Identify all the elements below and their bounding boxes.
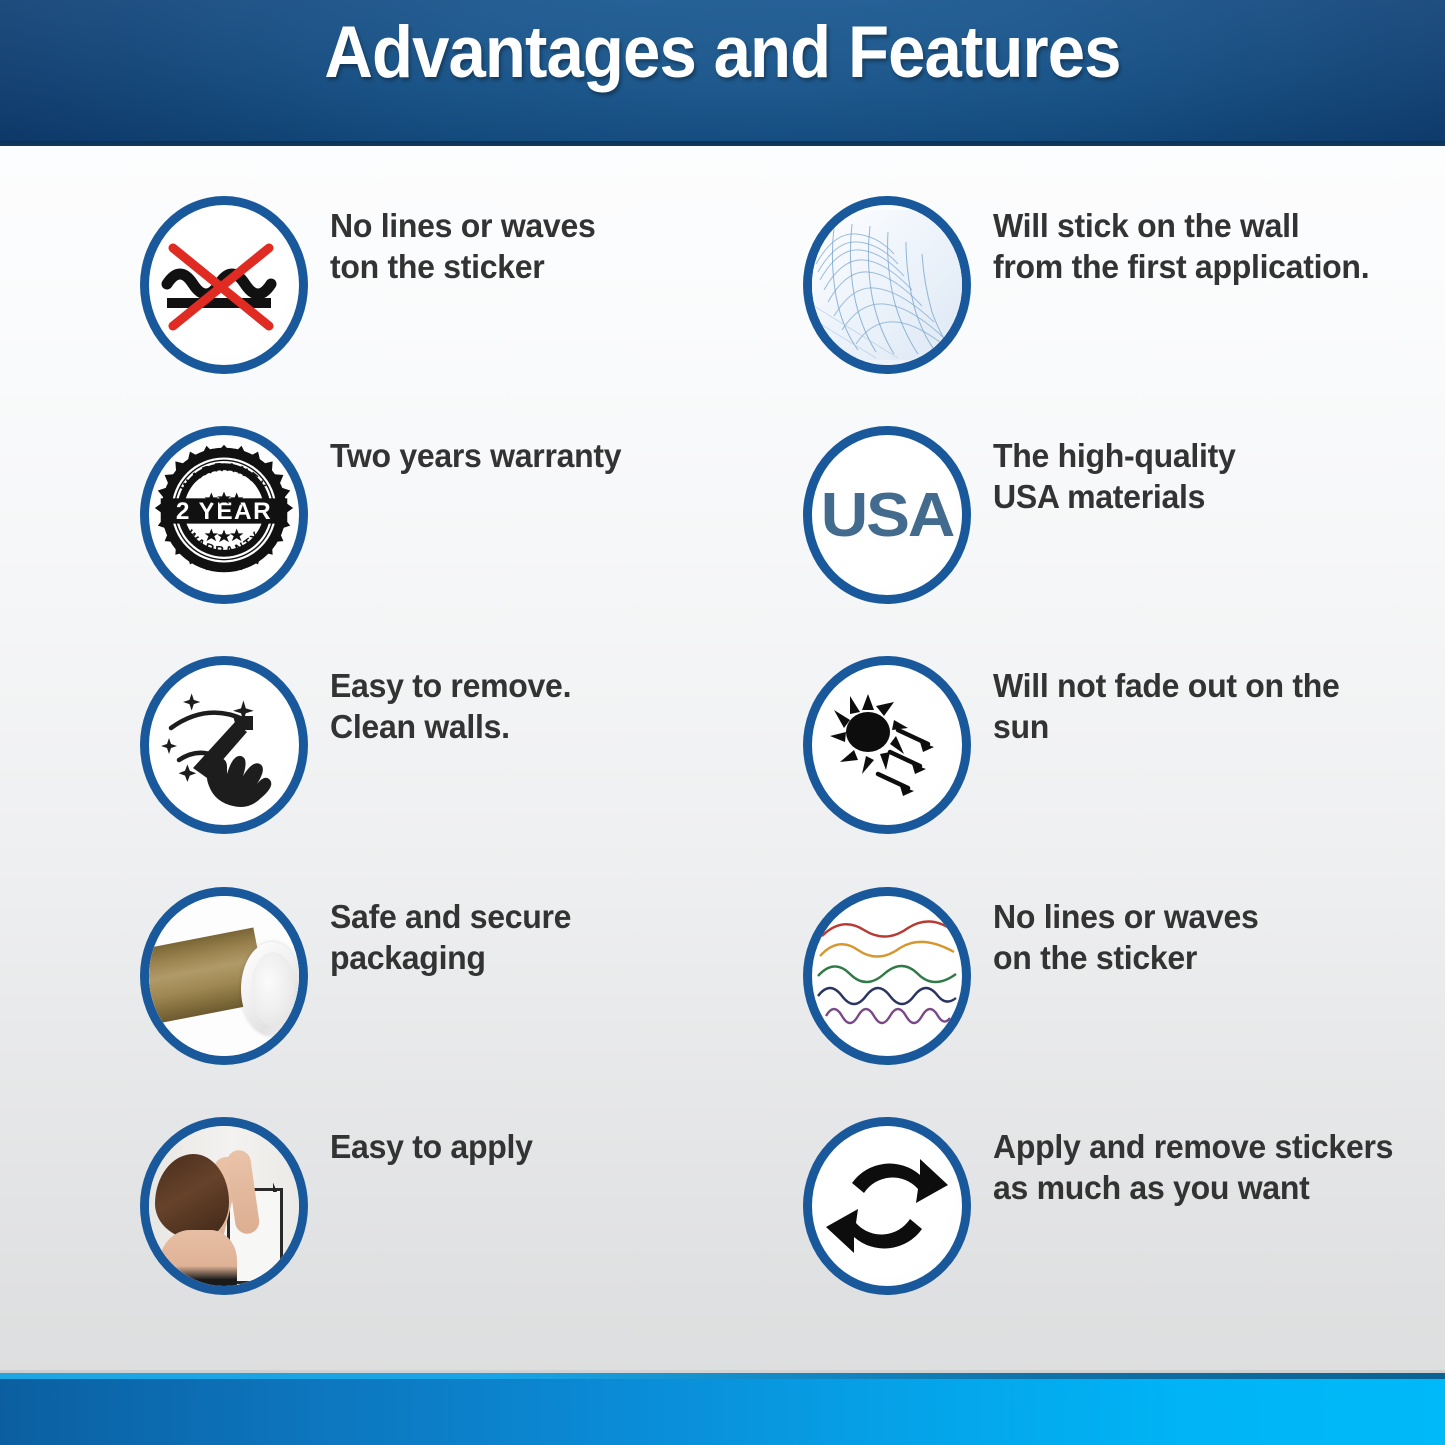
icon-circle [803, 196, 971, 374]
colored-sine-waves-icon [812, 896, 962, 1046]
icon-circle [803, 887, 971, 1065]
feature-two-year-warranty: 2 YEAR WARRANTY WARRANTY [40, 422, 723, 652]
icon-circle [803, 656, 971, 834]
feature-safe-secure-packaging: Safe and secure packaging [40, 883, 723, 1113]
feature-label: Easy to remove. Clean walls. [330, 666, 571, 748]
icon-circle [140, 887, 308, 1065]
recycle-arrows-icon [812, 1126, 962, 1286]
feature-label: Will not fade out on the sun [993, 666, 1393, 748]
feature-usa-materials: USA The high-quality USA materials [723, 422, 1406, 652]
icon-circle: USA [803, 426, 971, 604]
grid-backed-vinyl-film-icon [812, 205, 962, 365]
feature-apply-remove-repeatedly: Apply and remove stickers as much as you… [723, 1113, 1406, 1343]
usa-text-icon: USA [807, 435, 966, 595]
icon-wrap: 2 YEAR WARRANTY WARRANTY [140, 426, 308, 604]
cardboard-mailing-tube-icon [149, 896, 299, 1056]
icon-wrap [140, 656, 308, 834]
page-title: Advantages and Features [58, 14, 1387, 93]
warranty-badge-icon: 2 YEAR WARRANTY WARRANTY [151, 437, 297, 583]
woman-applying-sticker-photo-icon [149, 1126, 299, 1286]
icon-wrap [803, 656, 971, 834]
feature-label: Will stick on the wall from the first ap… [993, 206, 1369, 288]
feature-sticks-first-application: Will stick on the wall from the first ap… [723, 192, 1406, 422]
feature-no-fade-sun: Will not fade out on the sun [723, 652, 1406, 882]
icon-wrap [140, 196, 308, 374]
feature-label: Safe and secure packaging [330, 897, 711, 979]
feature-easy-remove-clean-walls: Easy to remove. Clean walls. [40, 652, 723, 882]
icon-wrap [803, 887, 971, 1065]
sparkle-hand-icon [149, 665, 299, 825]
icon-circle [803, 1117, 971, 1295]
sun-with-rays-arrows-icon [812, 665, 962, 825]
icon-circle: 2 YEAR WARRANTY WARRANTY [140, 426, 308, 604]
icon-circle [140, 196, 308, 374]
feature-label: Two years warranty [330, 436, 621, 477]
feature-label: Apply and remove stickers as much as you… [993, 1127, 1393, 1209]
infographic-page: Advantages and Features No lines or wave… [0, 0, 1445, 1445]
feature-label: No lines or waves ton the sticker [330, 206, 595, 288]
crossed-out-wavy-line-icon [149, 205, 299, 365]
icon-wrap [803, 196, 971, 374]
torso [159, 1230, 237, 1295]
icon-wrap: USA [803, 426, 971, 604]
icon-circle [140, 1117, 308, 1295]
feature-no-lines-waves-1: No lines or waves ton the sticker [40, 192, 723, 422]
feature-label: Easy to apply [330, 1127, 533, 1168]
feature-label: The high-quality USA materials [993, 436, 1236, 518]
icon-wrap [140, 887, 308, 1065]
tube-inner-opening [251, 952, 295, 1026]
features-grid: No lines or waves ton the sticker [0, 146, 1445, 1373]
warranty-center-label: 2 YEAR [176, 498, 272, 525]
hair [155, 1154, 229, 1240]
feature-label: No lines or waves on the sticker [993, 897, 1258, 979]
icon-wrap [140, 1117, 308, 1295]
feature-easy-to-apply: Easy to apply [40, 1113, 723, 1343]
icon-circle [140, 656, 308, 834]
feature-no-lines-waves-2: No lines or waves on the sticker [723, 883, 1406, 1113]
footer-banner [0, 1373, 1445, 1445]
header-banner: Advantages and Features [0, 0, 1445, 146]
icon-wrap [803, 1117, 971, 1295]
